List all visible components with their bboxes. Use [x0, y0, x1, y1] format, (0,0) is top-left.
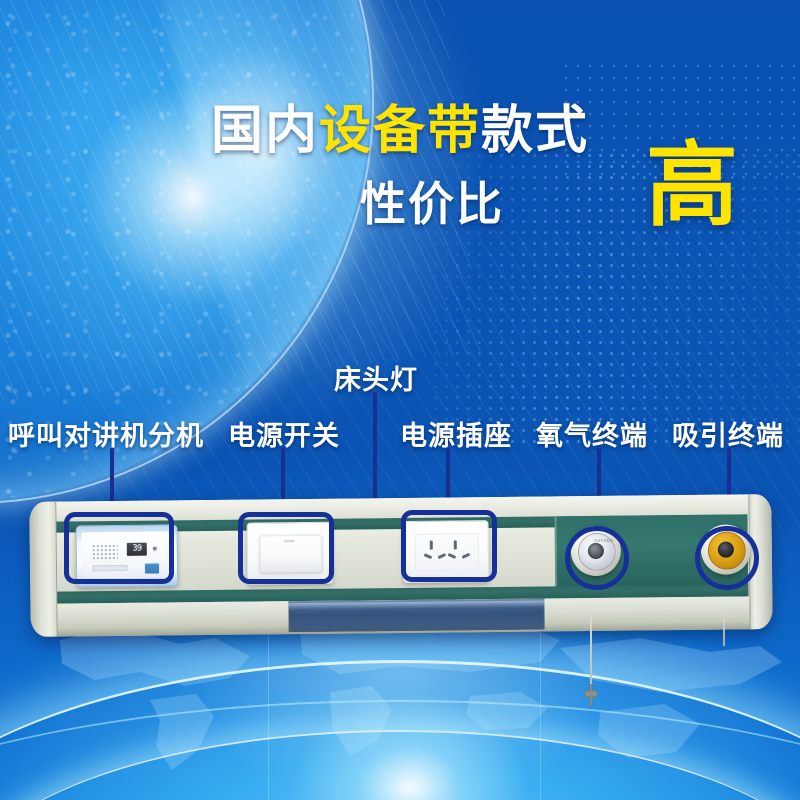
callout-label-intercom: 呼叫对讲机分机 — [8, 414, 204, 453]
horizon-sunburst-glow — [290, 690, 530, 800]
hose-fitting-icon — [583, 684, 599, 706]
headline-line1-highlight: 设备带 — [319, 101, 481, 161]
oxygen-hose-cord — [590, 612, 592, 690]
highlight-circle-oxygen — [565, 526, 629, 590]
headline-emphasis-word: 高 — [646, 140, 738, 232]
panel-end-cap-left — [29, 502, 57, 637]
headline-line1-part3: 款式 — [481, 101, 589, 161]
highlight-circle-suction — [695, 526, 759, 590]
callout-label-oxygen: 氧气终端 — [536, 414, 648, 453]
suction-hose-cord — [723, 612, 725, 646]
highlight-box-power-socket — [401, 510, 497, 582]
highlight-box-power-switch — [238, 512, 334, 584]
headline-line-2: 性价比 — [360, 168, 504, 234]
headline-line1-part1: 国内 — [211, 101, 319, 161]
headline-block: 国内设备带款式 性价比 高 — [0, 0, 800, 260]
poster-canvas: 国内设备带款式 性价比 高 呼叫对讲机分机 电源开关 床头灯 电源插座 氧气终端… — [0, 0, 800, 800]
callout-label-power-socket: 电源插座 — [400, 414, 512, 453]
highlight-box-intercom — [64, 512, 174, 584]
